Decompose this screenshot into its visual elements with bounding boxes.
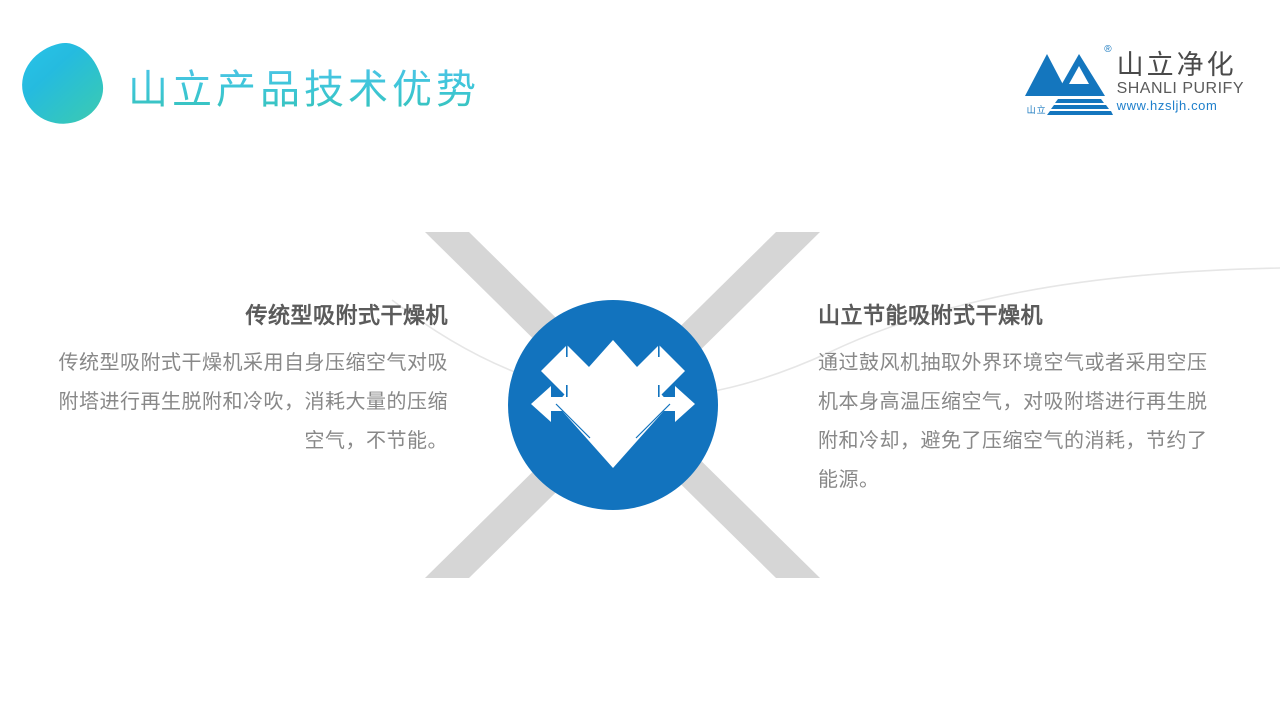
logo-text-block: 山立净化 SHANLI PURIFY www.hzsljh.com: [1117, 42, 1244, 114]
logo-mark-label: 山立: [1027, 103, 1047, 116]
center-circle: [508, 300, 718, 510]
slide-canvas: 山立产品技术优势 ® 山立 山立净化 SHANLI PURIFY www.hzs…: [0, 0, 1280, 720]
column-traditional: 传统型吸附式干燥机 传统型吸附式干燥机采用自身压缩空气对吸附塔进行再生脱附和冷吹…: [48, 300, 448, 461]
column-shanli-body: 通过鼓风机抽取外界环境空气或者采用空压机本身高温压缩空气，对吸附塔进行再生脱附和…: [818, 344, 1218, 500]
column-shanli-heading: 山立节能吸附式干燥机: [818, 300, 1218, 332]
logo-website: www.hzsljh.com: [1117, 98, 1218, 114]
registered-trademark-icon: ®: [1104, 44, 1111, 55]
blob-decoration-icon: [15, 37, 110, 132]
page-title: 山立产品技术优势: [128, 62, 480, 118]
diamond-arrows-icon: [531, 340, 695, 468]
column-traditional-body: 传统型吸附式干燥机采用自身压缩空气对吸附塔进行再生脱附和冷吹，消耗大量的压缩空气…: [48, 344, 448, 461]
x-band-decoration-icon: [425, 232, 820, 578]
logo-name-en: SHANLI PURIFY: [1117, 80, 1244, 98]
column-traditional-heading: 传统型吸附式干燥机: [48, 300, 448, 332]
column-shanli: 山立节能吸附式干燥机 通过鼓风机抽取外界环境空气或者采用空压机本身高温压缩空气，…: [818, 300, 1218, 500]
mountain-logo-icon: ® 山立: [1025, 42, 1113, 118]
logo-name-cn: 山立净化: [1117, 50, 1237, 80]
brand-logo: ® 山立 山立净化 SHANLI PURIFY www.hzsljh.com: [1025, 42, 1244, 118]
